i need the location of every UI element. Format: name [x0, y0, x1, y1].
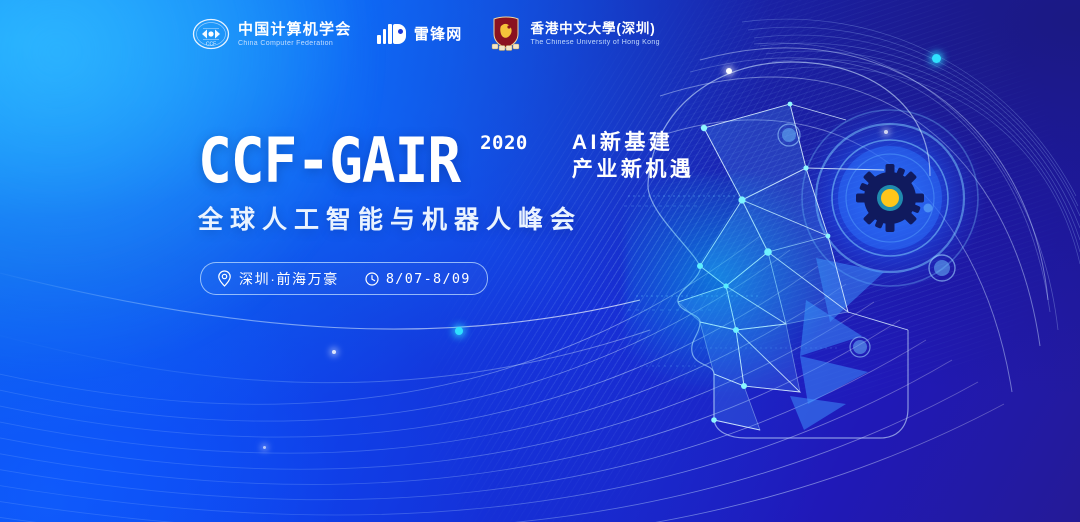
glow-face-highlight	[625, 175, 855, 405]
logo-cuhk-sz[interactable]: 香港中文大學(深圳) The Chinese University of Hon…	[489, 14, 660, 54]
event-location: 深圳·前海万豪	[217, 269, 339, 289]
background-decoration	[0, 0, 1080, 522]
logo-cuhk-en: The Chinese University of Hong Kong	[531, 39, 660, 46]
node-dot	[263, 446, 266, 449]
title-year: 2020	[480, 132, 528, 154]
logo-leiphone-cn: 雷锋网	[414, 27, 463, 42]
node-dot	[455, 327, 463, 335]
sponsor-logos: CCF 中国计算机学会 China Computer Federation 雷锋…	[192, 14, 660, 54]
logo-ccf[interactable]: CCF 中国计算机学会 China Computer Federation	[192, 15, 351, 53]
slogan-line-2: 产业新机遇	[572, 156, 695, 183]
location-pin-icon	[217, 270, 232, 287]
diagonal-hatch-band	[310, 0, 961, 522]
node-dot	[332, 350, 336, 354]
gear-icon	[848, 156, 932, 240]
slogan: AI新基建 产业新机遇	[572, 129, 695, 183]
title-block: CCF-GAIR 2020 AI新基建 产业新机遇 全球人工智能与机器人峰会	[198, 130, 618, 236]
event-date-text: 8/07-8/09	[386, 271, 471, 287]
decorative-lines	[0, 0, 1080, 522]
logo-ccf-en: China Computer Federation	[238, 40, 351, 47]
event-info-pill: 深圳·前海万豪 8/07-8/09	[200, 262, 488, 295]
event-date: 8/07-8/09	[365, 271, 471, 287]
logo-cuhk-cn: 香港中文大學(深圳)	[531, 22, 660, 36]
node-dot	[726, 68, 732, 74]
leiphone-mark-icon	[377, 24, 406, 44]
clock-icon	[365, 272, 379, 286]
event-location-text: 深圳·前海万豪	[239, 269, 339, 289]
logo-ccf-cn: 中国计算机学会	[238, 22, 351, 37]
node-dot	[932, 54, 941, 63]
glow-bottom-left	[0, 270, 440, 522]
logo-leiphone[interactable]: 雷锋网	[377, 24, 462, 44]
node-dot	[884, 130, 888, 134]
ccf-gair-banner: CCF 中国计算机学会 China Computer Federation 雷锋…	[0, 0, 1080, 522]
polygonal-ai-head-icon	[648, 62, 930, 438]
svg-text:CCF: CCF	[206, 42, 216, 48]
cuhk-crest-icon	[489, 14, 523, 54]
page-title: CCF-GAIR	[198, 130, 460, 193]
subtitle: 全球人工智能与机器人峰会	[198, 200, 618, 236]
horizontal-hatch-band	[542, 0, 1080, 448]
slogan-line-1: AI新基建	[572, 129, 695, 156]
ccf-emblem-icon: CCF	[192, 15, 230, 53]
